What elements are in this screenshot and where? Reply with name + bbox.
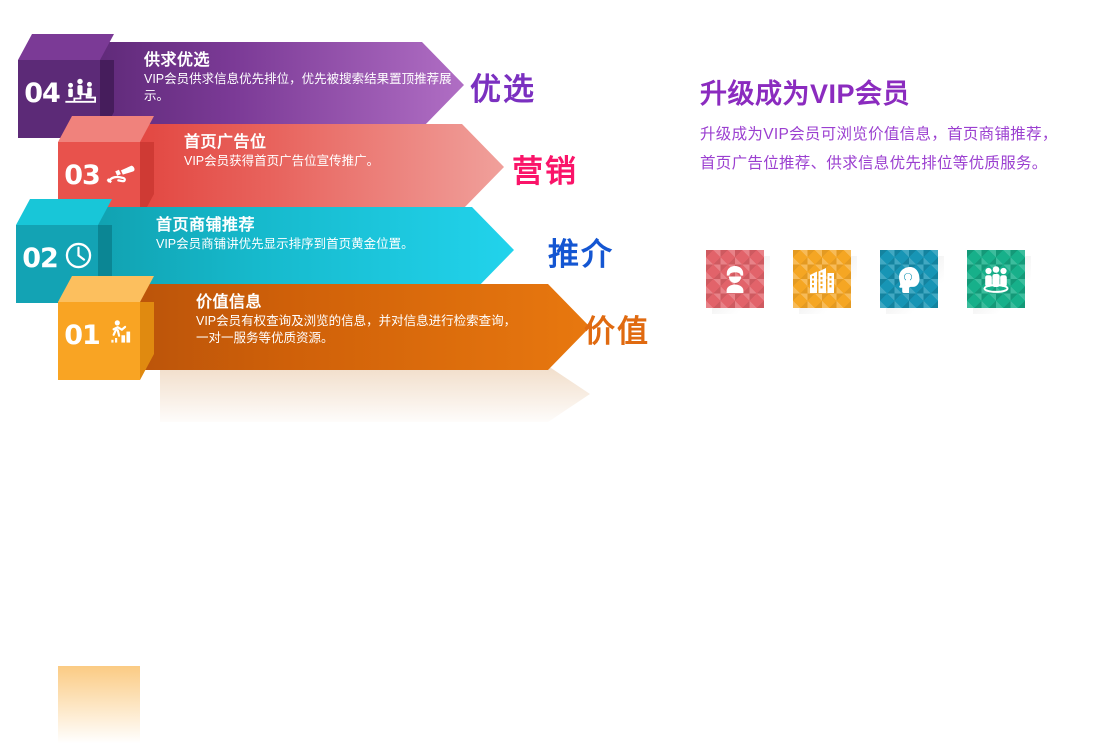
step-desc: VIP会员商铺讲优先显示排序到首页黄金位置。 [156, 236, 486, 253]
step-title: 供求优选 [144, 51, 464, 71]
people-group-icon [976, 259, 1016, 299]
buildings-icon [802, 259, 842, 299]
step-number: 02 [20, 245, 60, 272]
step-row-01[interactable]: 价值信息 VIP会员有权查询及浏览的信息，并对信息进行检索查询，一对一服务等优质… [0, 284, 660, 370]
step-number: 03 [62, 162, 102, 189]
hand-megaphone-icon [102, 152, 138, 192]
step-number: 01 [62, 322, 102, 349]
growth-chart-person-icon [102, 312, 138, 352]
steps-list: 供求优选 VIP会员供求信息优先排位，优先被搜索结果置顶推荐展示。 04 [0, 0, 680, 480]
tile-buildings[interactable] [793, 250, 851, 308]
tile-support-agent[interactable] [706, 250, 764, 308]
step-cube-01: 01 [58, 276, 154, 380]
idea-head-icon [889, 259, 929, 299]
step-title: 价值信息 [196, 293, 590, 313]
panel-body: 升级成为VIP会员可浏览价值信息，首页商铺推荐，首页广告位推荐、供求信息优先排位… [700, 120, 1070, 178]
step-keyword: 营销 [512, 146, 578, 191]
cube-side-face [140, 302, 154, 380]
feature-tiles [706, 250, 1066, 340]
step-title: 首页广告位 [184, 133, 504, 153]
panel-heading: 升级成为VIP会员 [700, 78, 1070, 110]
step-keyword: 价值 [584, 306, 650, 351]
cube-top-face [58, 116, 154, 142]
tile-people-group[interactable] [967, 250, 1025, 308]
step-title: 首页商铺推荐 [156, 216, 514, 236]
cube-top-face [18, 34, 114, 60]
support-agent-icon [715, 259, 755, 299]
podium-people-icon [62, 70, 98, 110]
cube-reflection [58, 666, 140, 752]
step-desc: VIP会员获得首页广告位宣传推广。 [184, 153, 504, 170]
vip-promo-panel: 升级成为VIP会员 升级成为VIP会员可浏览价值信息，首页商铺推荐，首页广告位推… [700, 78, 1070, 178]
step-keyword: 推介 [548, 229, 614, 274]
step-keyword: 优选 [470, 64, 536, 109]
step-desc: VIP会员供求信息优先排位，优先被搜索结果置顶推荐展示。 [144, 71, 464, 105]
step-desc: VIP会员有权查询及浏览的信息，并对信息进行检索查询，一对一服务等优质资源。 [196, 313, 526, 347]
clock-icon [60, 235, 96, 275]
step-banner-01: 价值信息 VIP会员有权查询及浏览的信息，并对信息进行检索查询，一对一服务等优质… [84, 284, 590, 370]
tile-idea-head[interactable] [880, 250, 938, 308]
cube-top-face [16, 199, 112, 225]
step-number: 04 [22, 80, 62, 107]
cube-top-face [58, 276, 154, 302]
step-row-03[interactable]: 首页广告位 VIP会员获得首页广告位宣传推广。 03 [0, 124, 640, 210]
infographic-canvas: 供求优选 VIP会员供求信息优先排位，优先被搜索结果置顶推荐展示。 04 [0, 0, 1100, 480]
